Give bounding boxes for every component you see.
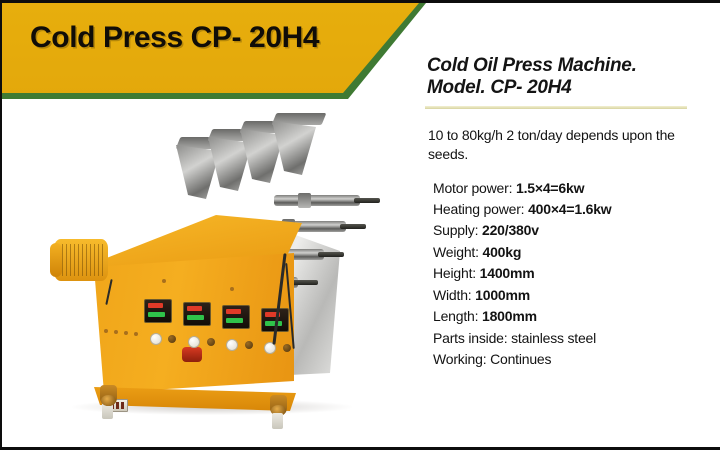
control-button-dark-4 — [283, 344, 291, 352]
spec-value: 1400mm — [480, 265, 535, 281]
spec-value: 400kg — [483, 244, 522, 260]
motor-cooling-fins — [62, 244, 104, 276]
controller-1-red-readout — [148, 303, 163, 308]
press-nozzle-2 — [318, 252, 344, 257]
capacity-description: 10 to 80kg/h 2 ton/day depends upon the … — [422, 126, 718, 163]
product-banner-image: Cold Press CP- 20H4 — [0, 0, 720, 450]
specification-list: Motor power: 1.5×4=6kwHeating power: 400… — [422, 178, 718, 371]
spec-row: Width: 1000mm — [433, 285, 718, 306]
heading-underline — [425, 106, 687, 109]
panel-screw-1 — [104, 329, 108, 333]
control-button-dark-3 — [245, 341, 253, 349]
control-button-white-1 — [150, 333, 162, 345]
red-valve — [182, 347, 202, 362]
upper-rivet-2 — [230, 287, 234, 291]
spec-value: 1000mm — [475, 287, 530, 303]
spec-row: Height: 1400mm — [433, 263, 718, 284]
panel-screw-2 — [114, 330, 118, 334]
spec-row: Motor power: 1.5×4=6kw — [433, 178, 718, 199]
spec-label: Supply: — [433, 222, 482, 238]
controller-2-green-readout — [187, 315, 204, 320]
product-heading-line2: Model. CP- 20H4 — [427, 77, 718, 99]
press-nozzle-4 — [354, 198, 380, 203]
machine-photo — [42, 103, 402, 443]
product-heading-line1: Cold Oil Press Machine. — [427, 55, 718, 77]
spec-row: Weight: 400kg — [433, 242, 718, 263]
title-banner: Cold Press CP- 20H4 — [2, 3, 432, 99]
product-heading: Cold Oil Press Machine. Model. CP- 20H4 — [422, 55, 718, 99]
spec-label: Width: — [433, 287, 475, 303]
motor-end-cap — [50, 243, 62, 277]
temperature-controller-2 — [183, 302, 211, 326]
panel-screw-4 — [134, 332, 138, 336]
control-button-dark-2 — [207, 338, 215, 346]
spec-value: 220/380v — [482, 222, 539, 238]
feed-hopper-4 — [272, 121, 316, 175]
spec-value: 1.5×4=6kw — [516, 180, 584, 196]
spec-row: Supply: 220/380v — [433, 220, 718, 241]
support-leg-right — [272, 413, 283, 429]
spec-row: Parts inside: stainless steel — [433, 328, 718, 349]
spec-value: stainless steel — [511, 330, 596, 346]
control-button-white-2 — [188, 336, 200, 348]
product-info-panel: Cold Oil Press Machine. Model. CP- 20H4 … — [422, 55, 718, 370]
controller-1-green-readout — [148, 312, 165, 317]
controller-3-red-readout — [226, 309, 241, 314]
spec-label: Working: — [433, 351, 490, 367]
panel-screw-3 — [124, 331, 128, 335]
caster-wheel-left — [100, 385, 117, 406]
spec-label: Height: — [433, 265, 480, 281]
controller-3-green-readout — [226, 318, 243, 323]
press-barrel-4 — [274, 195, 360, 206]
temperature-controller-1 — [144, 299, 172, 323]
controller-4-green-readout — [265, 321, 282, 326]
press-head-4 — [298, 193, 311, 208]
press-nozzle-3 — [340, 224, 366, 229]
spec-label: Parts inside: — [433, 330, 511, 346]
control-button-white-3 — [226, 339, 238, 351]
controller-2-red-readout — [187, 306, 202, 311]
upper-rivet-1 — [162, 279, 166, 283]
temperature-controller-3 — [222, 305, 250, 329]
spec-label: Heating power: — [433, 201, 528, 217]
spec-row: Length: 1800mm — [433, 306, 718, 327]
spec-value: 400×4=1.6kw — [528, 201, 611, 217]
control-button-dark-1 — [168, 335, 176, 343]
spec-value: 1800mm — [482, 308, 537, 324]
spec-label: Weight: — [433, 244, 483, 260]
press-nozzle-1 — [292, 280, 318, 285]
spec-row: Working: Continues — [433, 349, 718, 370]
page-title: Cold Press CP- 20H4 — [30, 21, 319, 55]
spec-label: Motor power: — [433, 180, 516, 196]
spec-row: Heating power: 400×4=1.6kw — [433, 199, 718, 220]
spec-label: Length: — [433, 308, 482, 324]
spec-value: Continues — [490, 351, 551, 367]
